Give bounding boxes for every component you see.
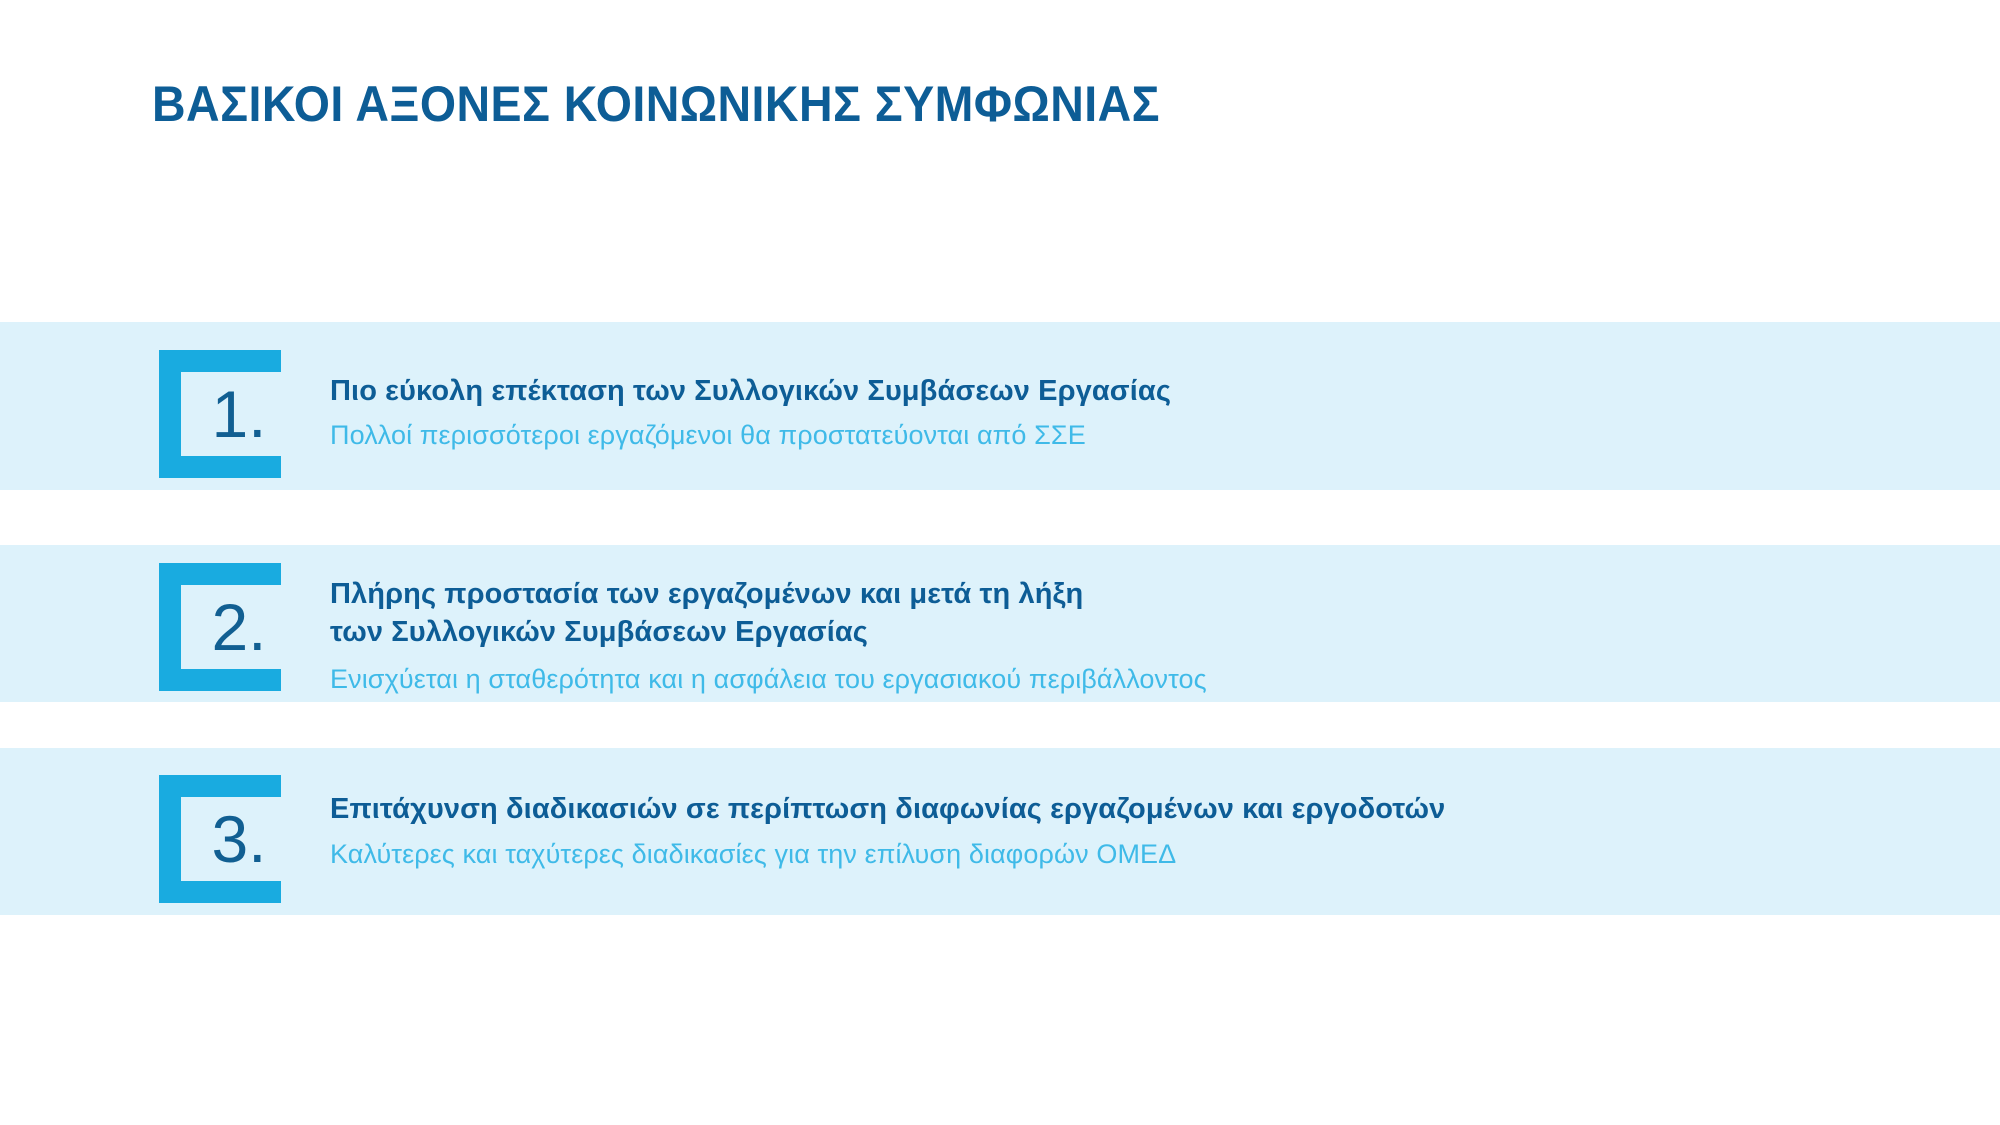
item-subtitle: Πολλοί περισσότεροι εργαζόμενοι θα προστ…: [330, 417, 1171, 453]
item-text-block: Επιτάχυνση διαδικασιών σε περίπτωση διαφ…: [330, 790, 1445, 872]
bracket-bottom-arm: [181, 456, 281, 478]
item-number: 3.: [181, 797, 281, 881]
item-text-block: Πλήρης προστασία των εργαζομένων και μετ…: [330, 575, 1207, 697]
item-number: 1.: [181, 372, 281, 456]
bracket-left-bar: [159, 563, 181, 691]
item-title: Πλήρης προστασία των εργαζομένων και μετ…: [330, 575, 1207, 651]
item-subtitle: Καλύτερες και ταχύτερες διαδικασίες για …: [330, 836, 1445, 872]
bracket-left-bar: [159, 775, 181, 903]
item-title: Πιο εύκολη επέκταση των Συλλογικών Συμβά…: [330, 372, 1171, 410]
item-number: 2.: [181, 585, 281, 669]
slide-canvas: ΒΑΣΙΚΟΙ ΑΞΟΝΕΣ ΚΟΙΝΩΝΙΚΗΣ ΣΥΜΦΩΝΙΑΣ 1. Π…: [0, 0, 2000, 1125]
item-subtitle: Ενισχύεται η σταθερότητα και η ασφάλεια …: [330, 661, 1207, 697]
item-text-block: Πιο εύκολη επέκταση των Συλλογικών Συμβά…: [330, 372, 1171, 453]
bracket-top-arm: [181, 775, 281, 797]
bracket-left-bar: [159, 350, 181, 478]
bracket-number-icon: 1.: [159, 350, 281, 478]
bracket-top-arm: [181, 563, 281, 585]
bracket-bottom-arm: [181, 881, 281, 903]
bracket-top-arm: [181, 350, 281, 372]
bracket-number-icon: 2.: [159, 563, 281, 691]
bracket-number-icon: 3.: [159, 775, 281, 903]
page-title: ΒΑΣΙΚΟΙ ΑΞΟΝΕΣ ΚΟΙΝΩΝΙΚΗΣ ΣΥΜΦΩΝΙΑΣ: [152, 74, 1160, 134]
bracket-bottom-arm: [181, 669, 281, 691]
item-title: Επιτάχυνση διαδικασιών σε περίπτωση διαφ…: [330, 790, 1445, 828]
